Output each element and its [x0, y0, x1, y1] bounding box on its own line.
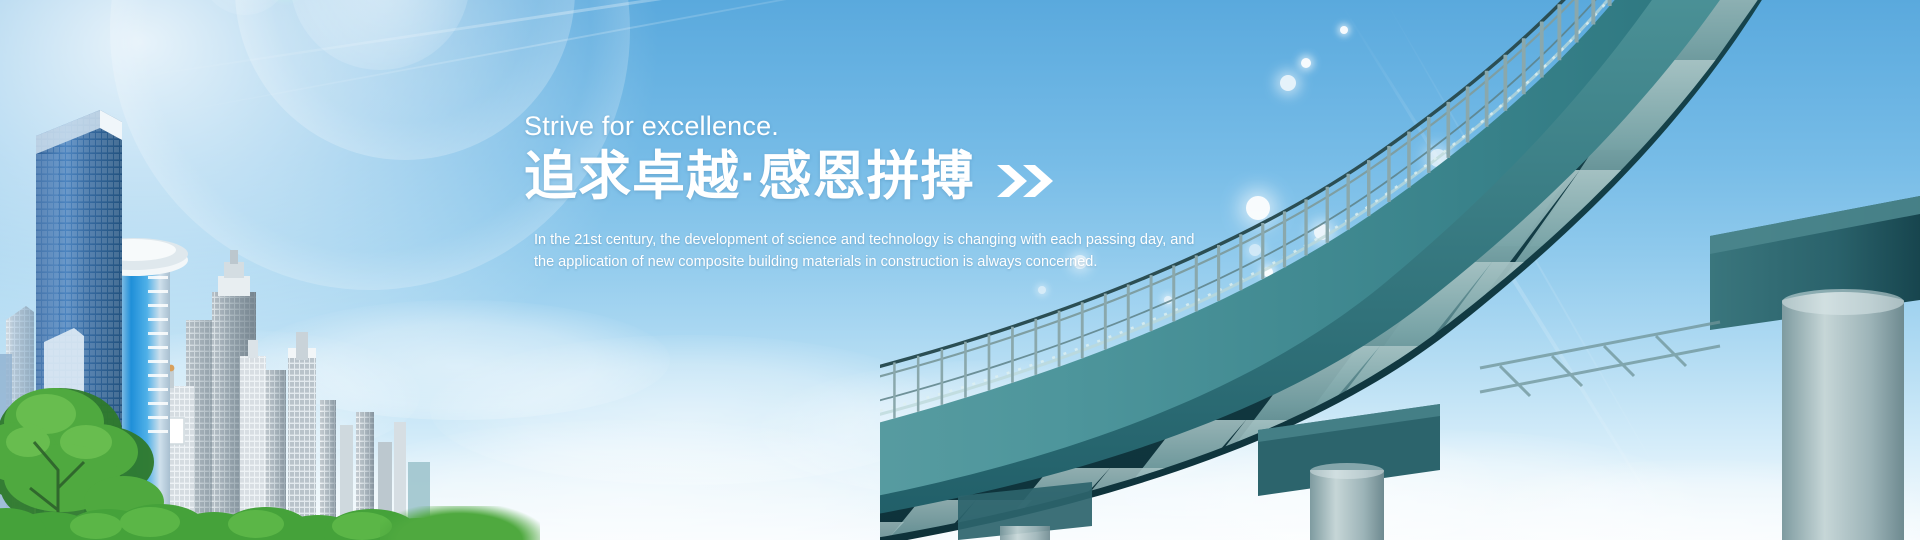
page-title: 追求卓越·感恩拼搏: [524, 146, 975, 209]
double-chevron-right-icon[interactable]: [995, 161, 1057, 201]
banner-description: In the 21st century, the development of …: [534, 229, 1234, 274]
description-line-2: the application of new composite buildin…: [534, 251, 1234, 273]
eyebrow-text: Strive for excellence.: [524, 110, 1284, 142]
bridge-pier-near: [1710, 196, 1920, 540]
bridge-cross-bracing: [1480, 322, 1720, 396]
hero-banner: Strive for excellence. 追求卓越·感恩拼搏 In the …: [0, 0, 1920, 540]
foreground-foliage-strip: [380, 506, 540, 540]
banner-copy: Strive for excellence. 追求卓越·感恩拼搏 In the …: [524, 110, 1284, 274]
description-line-1: In the 21st century, the development of …: [534, 229, 1234, 251]
headline-row: 追求卓越·感恩拼搏: [524, 146, 1284, 209]
city-skyline: [0, 70, 430, 540]
